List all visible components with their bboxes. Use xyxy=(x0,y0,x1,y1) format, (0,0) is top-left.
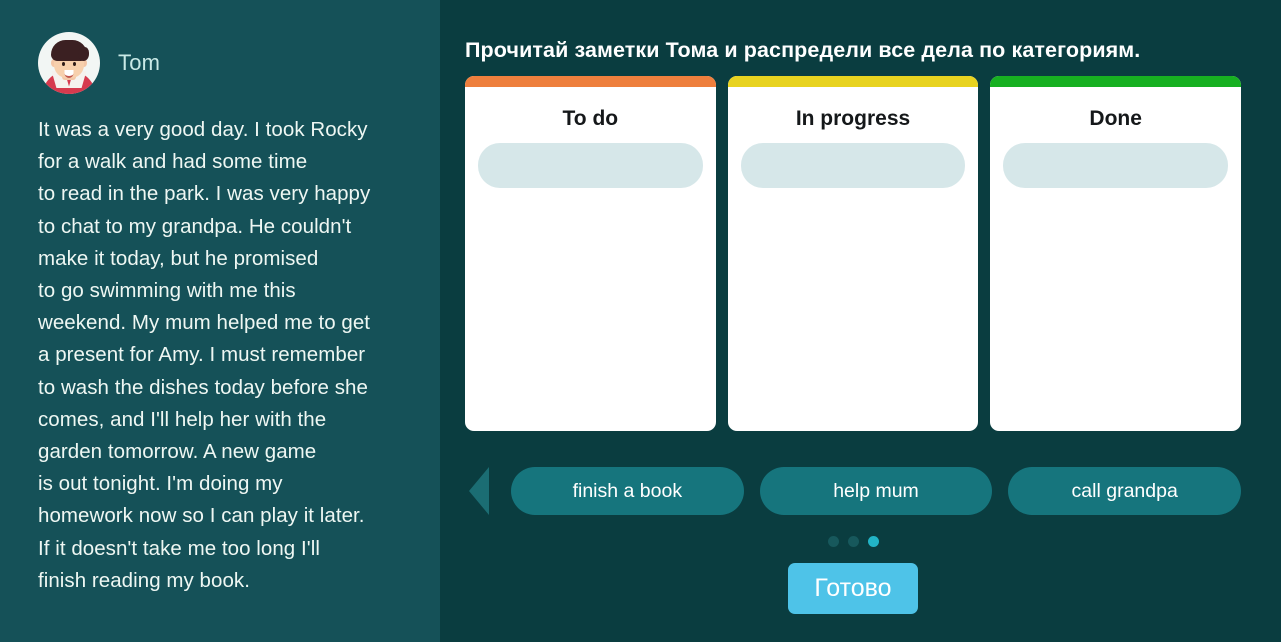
column-stripe xyxy=(465,76,716,87)
dropzone-slot[interactable] xyxy=(478,143,703,188)
board-panel: Прочитай заметки Тома и распредели все д… xyxy=(440,0,1281,642)
boy-avatar-icon xyxy=(38,32,100,94)
draggable-chip[interactable]: help mum xyxy=(760,467,993,515)
draggable-chip[interactable]: call grandpa xyxy=(1008,467,1241,515)
chevron-left-icon[interactable] xyxy=(469,467,489,515)
pagination-dot-active[interactable] xyxy=(868,536,879,547)
column-to-do[interactable]: To do xyxy=(465,76,716,431)
page-title: Прочитай заметки Тома и распредели все д… xyxy=(465,36,1241,64)
note-author: Tom xyxy=(38,32,402,94)
column-body[interactable] xyxy=(465,143,716,431)
column-title: In progress xyxy=(728,87,979,143)
column-stripe xyxy=(990,76,1241,87)
board-columns: To do In progress Done xyxy=(465,76,1241,431)
avatar-eye-left xyxy=(62,62,65,66)
pagination-dot[interactable] xyxy=(848,536,859,547)
column-title: To do xyxy=(465,87,716,143)
dropzone-slot[interactable] xyxy=(741,143,966,188)
draggable-chip[interactable]: finish a book xyxy=(511,467,744,515)
done-button[interactable]: Готово xyxy=(788,563,917,614)
note-body-text: It was a very good day. I took Rocky for… xyxy=(38,114,402,597)
note-author-name: Tom xyxy=(118,50,160,76)
column-body[interactable] xyxy=(728,143,979,431)
column-done[interactable]: Done xyxy=(990,76,1241,431)
pagination-dot[interactable] xyxy=(828,536,839,547)
column-stripe xyxy=(728,76,979,87)
chip-tray: finish a book help mum call grandpa xyxy=(465,467,1241,515)
footer-actions: Готово xyxy=(465,563,1241,614)
column-in-progress[interactable]: In progress xyxy=(728,76,979,431)
pagination-dots xyxy=(465,536,1241,547)
note-panel: Tom It was a very good day. I took Rocky… xyxy=(0,0,440,642)
column-body[interactable] xyxy=(990,143,1241,431)
avatar-hair xyxy=(51,40,87,61)
avatar-eye-right xyxy=(73,62,76,66)
dropzone-slot[interactable] xyxy=(1003,143,1228,188)
column-title: Done xyxy=(990,87,1241,143)
task-screen: Tom It was a very good day. I took Rocky… xyxy=(0,0,1281,642)
